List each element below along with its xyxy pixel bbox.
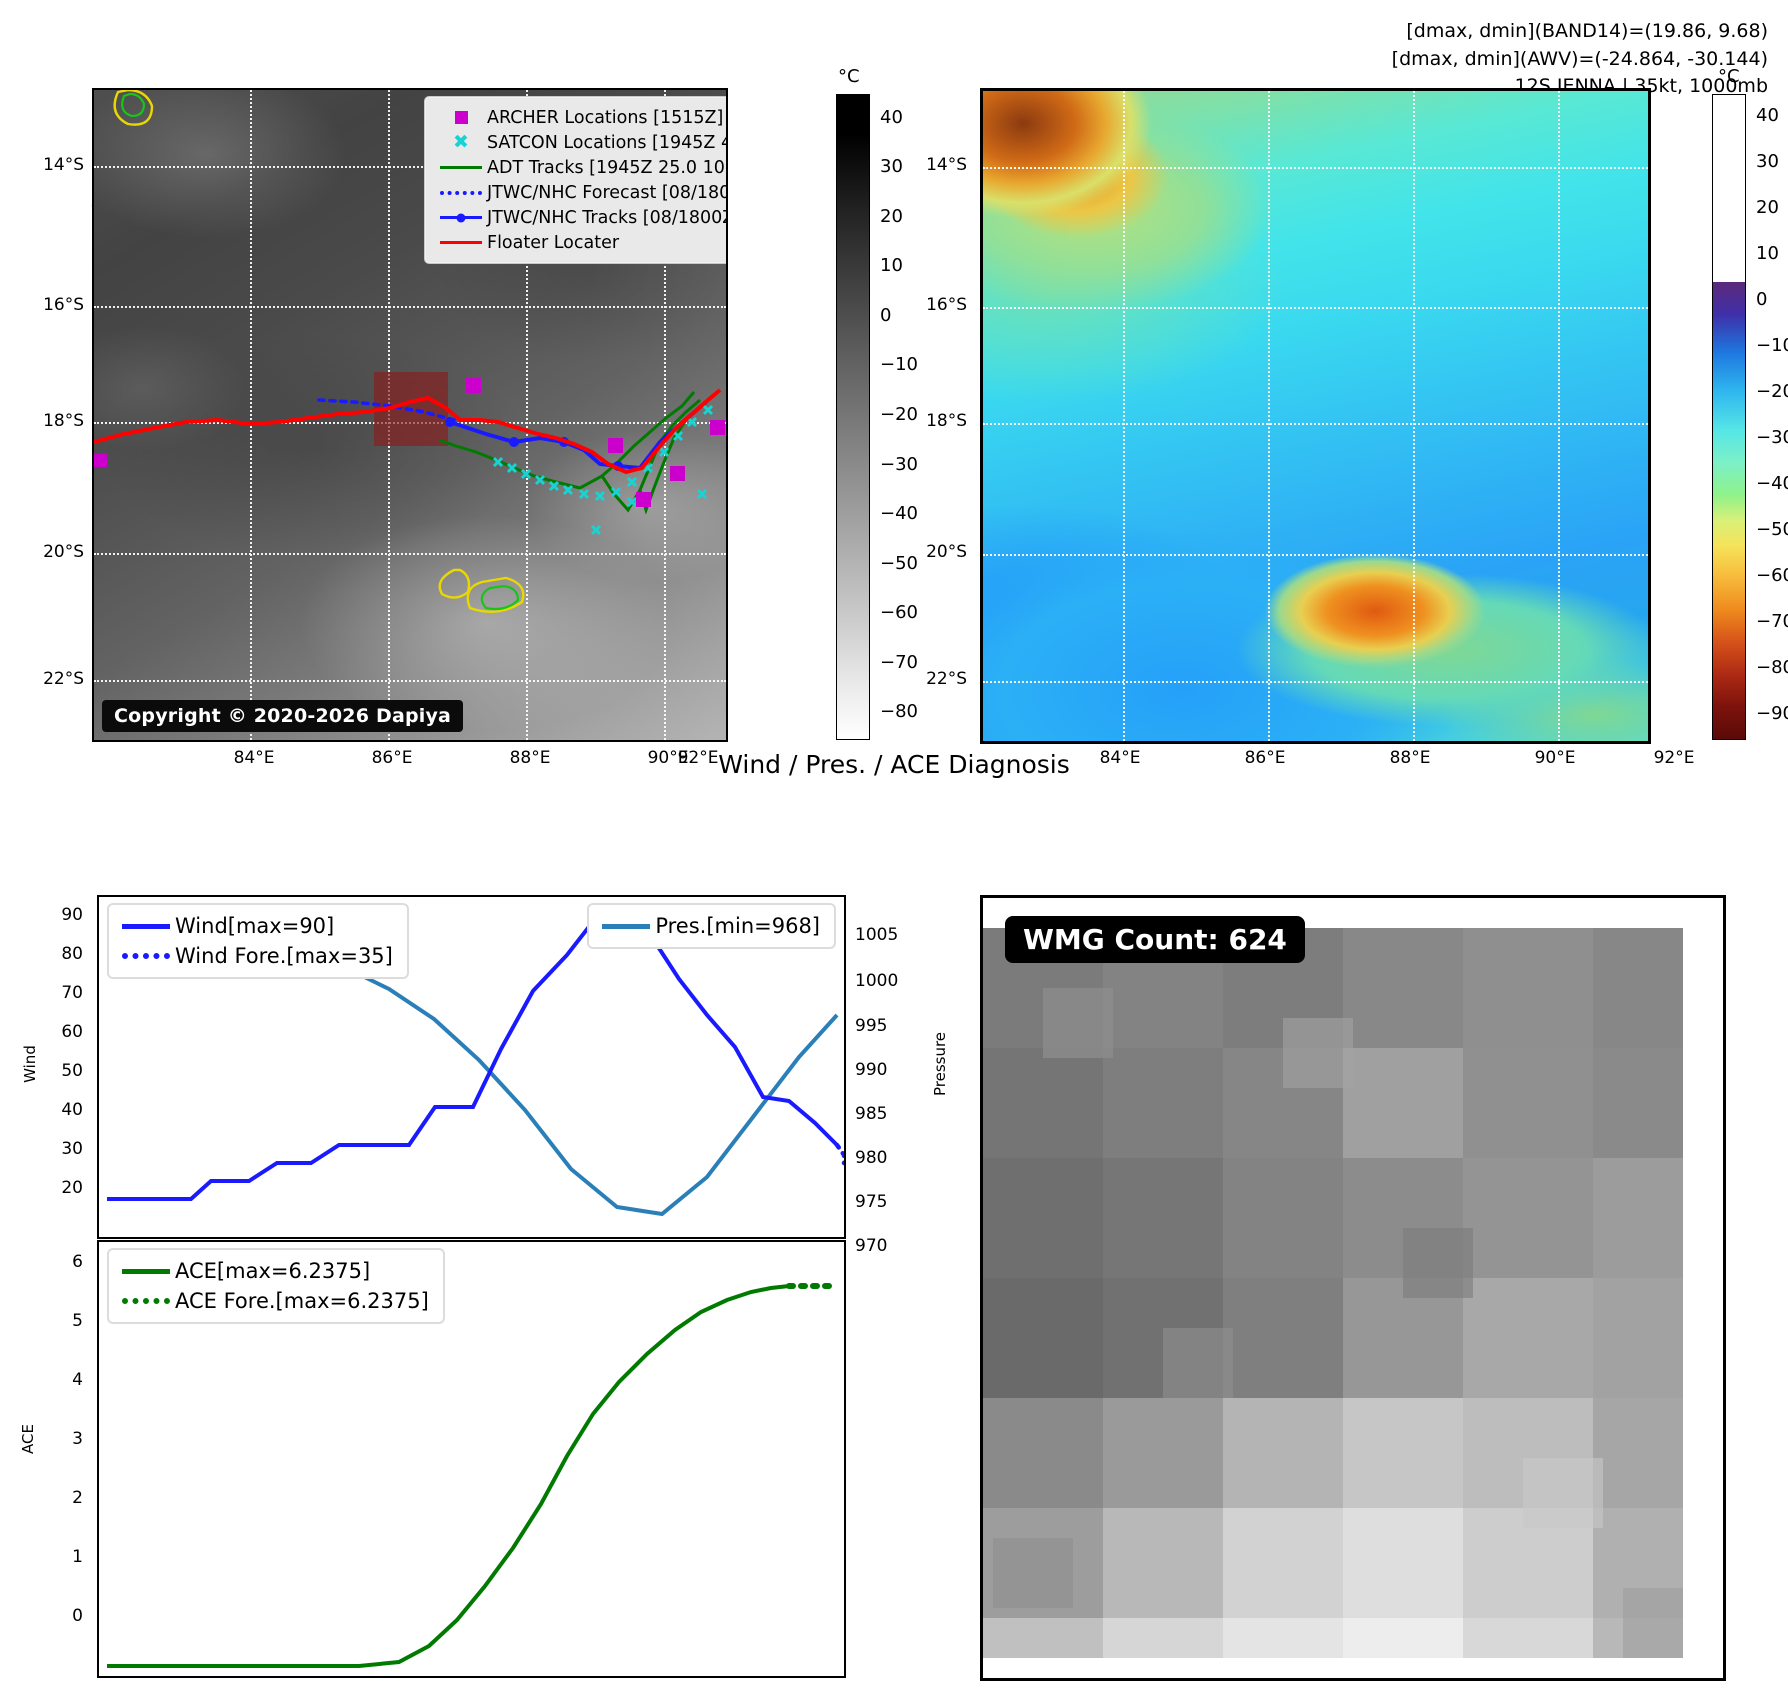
green-line-icon xyxy=(435,166,487,169)
legend-label: JTWC/NHC Tracks [08/1800Z] xyxy=(487,208,728,228)
wind-ytick: 30 xyxy=(28,1139,83,1159)
ir-lat-tick: 18°S xyxy=(22,411,84,431)
jtwc-track-point xyxy=(445,417,455,427)
archer-marker xyxy=(608,438,623,453)
cyan-x-marker-icon: ✖ xyxy=(435,133,487,152)
copyright-badge: Copyright © 2020-2026 Dapiya xyxy=(102,700,463,732)
pressure-ytick: 990 xyxy=(855,1060,915,1080)
ir-lat-tick: 20°S xyxy=(22,542,84,562)
colorbar-tick-label: 40 xyxy=(1756,105,1779,126)
legend-item-archer: ARCHER Locations [1515Z] xyxy=(435,105,728,130)
jtwc-track-point xyxy=(509,437,519,447)
lat-gridline xyxy=(983,167,1648,169)
colorbar-gradient xyxy=(1712,94,1746,740)
red-line-icon xyxy=(435,241,487,244)
map-legend[interactable]: ARCHER Locations [1515Z] ✖ SATCON Locati… xyxy=(424,96,728,264)
magenta-square-marker-icon xyxy=(435,111,487,124)
legend-item-floater-locater: Floater Locater xyxy=(435,230,728,255)
awv-map[interactable] xyxy=(980,88,1651,744)
archer-marker xyxy=(466,378,481,393)
legend-item-ace: ACE[max=6.2375] xyxy=(117,1256,429,1286)
archer-marker xyxy=(636,492,651,507)
colorbar-tick-label: −50 xyxy=(1756,519,1788,540)
wind-legend[interactable]: Wind[max=90] Wind Fore.[max=35] xyxy=(107,903,409,979)
band14-range: [dmax, dmin](BAND14)=(19.86, 9.68) xyxy=(1392,18,1768,46)
dashboard-root: FY-4B BAND13-DIAS FLOATER Time: 2026/01/… xyxy=(0,0,1788,1690)
legend-item-satcon: ✖ SATCON Locations [1945Z 40 1002] xyxy=(435,130,728,155)
legend-label: SATCON Locations [1945Z 40 1002] xyxy=(487,133,728,153)
archer-marker xyxy=(710,420,725,435)
ace-ytick: 2 xyxy=(28,1488,83,1508)
wmg-count-badge: WMG Count: 624 xyxy=(1005,916,1305,963)
legend-label: ADT Tracks [1945Z 25.0 1005.6] xyxy=(487,158,728,178)
green-dotted-line-icon xyxy=(117,1298,175,1304)
colorbar-tick-label: −70 xyxy=(1756,611,1788,632)
pressure-ytick: 975 xyxy=(855,1192,915,1212)
cold-cloud-contour xyxy=(482,586,518,609)
ace-legend[interactable]: ACE[max=6.2375] ACE Fore.[max=6.2375] xyxy=(107,1248,445,1324)
lon-gridline xyxy=(1123,91,1125,741)
colorbar-tick-label: −40 xyxy=(880,503,918,524)
legend-item-adt: ADT Tracks [1945Z 25.0 1005.6] xyxy=(435,155,728,180)
pressure-legend[interactable]: Pres.[min=968] xyxy=(587,903,836,949)
colorbar-tick-label: 10 xyxy=(880,255,903,276)
colorbar-tick-label: −60 xyxy=(1756,565,1788,586)
legend-item-ace-forecast: ACE Fore.[max=6.2375] xyxy=(117,1286,429,1316)
colorbar-tick-label: 0 xyxy=(880,305,891,326)
cold-cloud-contour xyxy=(122,94,144,116)
ace-ytick: 4 xyxy=(28,1370,83,1390)
cold-cloud-contour xyxy=(440,570,469,598)
legend-item-jtwc-tracks: JTWC/NHC Tracks [08/1800Z] xyxy=(435,205,728,230)
lon-gridline xyxy=(1268,91,1270,741)
lon-gridline xyxy=(1558,91,1560,741)
colorbar-tick-label: 30 xyxy=(1756,151,1779,172)
awv-lat-tick: 20°S xyxy=(905,542,967,562)
pressure-ytick: 1000 xyxy=(855,971,915,991)
awv-range: [dmax, dmin](AWV)=(-24.864, -30.144) xyxy=(1392,46,1768,74)
wind-axis-label: Wind xyxy=(21,1024,39,1104)
legend-label: JTWC/NHC Forecast [08/1800Z] xyxy=(487,183,728,203)
legend-label: Pres.[min=968] xyxy=(655,914,820,938)
legend-label: Wind[max=90] xyxy=(175,914,334,938)
blue-line-dot-icon xyxy=(435,216,487,219)
ir-floater-map[interactable]: ARCHER Locations [1515Z] ✖ SATCON Locati… xyxy=(92,88,728,742)
blue-line-icon xyxy=(117,924,175,929)
colorbar-tick-label: 20 xyxy=(1756,197,1779,218)
lat-gridline xyxy=(983,681,1648,683)
ir-lat-tick: 22°S xyxy=(22,669,84,689)
colorbar-tick-label: 20 xyxy=(880,206,903,227)
archer-marker xyxy=(94,454,107,467)
ace-axis-label: ACE xyxy=(19,1399,37,1479)
colorbar-tick-label: −30 xyxy=(880,454,918,475)
ace-ytick: 1 xyxy=(28,1547,83,1567)
lat-gridline xyxy=(983,307,1648,309)
colorbar-tick-label: 30 xyxy=(880,156,903,177)
pressure-ytick: 985 xyxy=(855,1104,915,1124)
green-line-icon xyxy=(117,1269,175,1274)
colorbar-unit: °C xyxy=(838,66,860,87)
awv-lat-tick: 22°S xyxy=(905,669,967,689)
pressure-ytick: 995 xyxy=(855,1016,915,1036)
ace-series xyxy=(107,1286,789,1666)
cold-cloud-contour xyxy=(468,578,524,612)
wind-ytick: 90 xyxy=(28,905,83,925)
legend-label: Wind Fore.[max=35] xyxy=(175,944,393,968)
wind-ytick: 80 xyxy=(28,944,83,964)
lon-gridline xyxy=(1413,91,1415,741)
wmg-pixel-grid xyxy=(983,898,1723,1678)
wind-ytick: 20 xyxy=(28,1178,83,1198)
legend-label: Floater Locater xyxy=(487,233,619,253)
colorbar-unit: °C xyxy=(1718,66,1740,87)
colorbar-tick-label: 0 xyxy=(1756,289,1767,310)
pressure-ytick: 970 xyxy=(855,1236,915,1256)
pressure-ytick: 980 xyxy=(855,1148,915,1168)
colorbar-gradient xyxy=(836,94,870,740)
colorbar-tick-label: −40 xyxy=(1756,473,1788,494)
steelblue-line-icon xyxy=(597,924,655,929)
ir-lat-tick: 16°S xyxy=(22,295,84,315)
ace-chart[interactable]: ACE[max=6.2375] ACE Fore.[max=6.2375] xyxy=(97,1240,846,1678)
colorbar-tick-label: 10 xyxy=(1756,243,1779,264)
colorbar-tick-label: −90 xyxy=(1756,703,1788,724)
colorbar-tick-label: 40 xyxy=(880,107,903,128)
pressure-axis-label: Pressure xyxy=(931,1019,949,1109)
blue-dotted-line-icon xyxy=(435,191,487,195)
colorbar-tick-label: −80 xyxy=(880,701,918,722)
colorbar-tick-label: −20 xyxy=(1756,381,1788,402)
awv-lat-tick: 16°S xyxy=(905,295,967,315)
awv-lat-tick: 14°S xyxy=(905,155,967,175)
ace-ytick: 6 xyxy=(28,1252,83,1272)
wmg-microwave-panel[interactable]: WMG Count: 624 xyxy=(980,895,1726,1681)
wind-forecast-series xyxy=(837,1145,844,1163)
legend-item-pressure: Pres.[min=968] xyxy=(597,911,820,941)
legend-label: ARCHER Locations [1515Z] xyxy=(487,108,723,128)
pressure-ytick: 1005 xyxy=(855,925,915,945)
legend-label: ACE[max=6.2375] xyxy=(175,1259,370,1283)
legend-item-wind: Wind[max=90] xyxy=(117,911,393,941)
colorbar-tick-label: −30 xyxy=(1756,427,1788,448)
colorbar-tick-label: −10 xyxy=(1756,335,1788,356)
colorbar-tick-label: −10 xyxy=(880,354,918,375)
ir-lat-tick: 14°S xyxy=(22,155,84,175)
awv-texture xyxy=(983,91,1648,741)
wind-pressure-chart[interactable]: Wind[max=90] Wind Fore.[max=35] Pres.[mi… xyxy=(97,895,846,1239)
ace-ytick: 0 xyxy=(28,1606,83,1626)
diagnosis-title: Wind / Pres. / ACE Diagnosis xyxy=(0,750,1788,779)
archer-marker xyxy=(670,466,685,481)
colorbar-tick-label: −80 xyxy=(1756,657,1788,678)
colorbar-tick-label: −60 xyxy=(880,602,918,623)
blue-dotted-line-icon xyxy=(117,953,175,959)
legend-item-jtwc-forecast: JTWC/NHC Forecast [08/1800Z] xyxy=(435,180,728,205)
legend-label: ACE Fore.[max=6.2375] xyxy=(175,1289,429,1313)
ace-ytick: 5 xyxy=(28,1311,83,1331)
legend-item-wind-forecast: Wind Fore.[max=35] xyxy=(117,941,393,971)
awv-lat-tick: 18°S xyxy=(905,411,967,431)
lat-gridline xyxy=(983,423,1648,425)
wind-ytick: 70 xyxy=(28,983,83,1003)
lat-gridline xyxy=(983,554,1648,556)
